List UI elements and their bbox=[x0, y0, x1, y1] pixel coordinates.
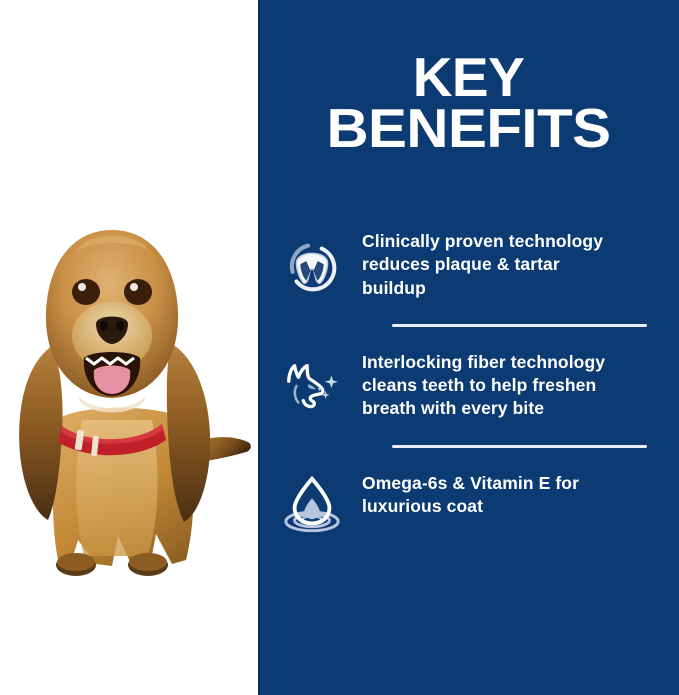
benefit-item-2: Interlocking fiber technology cleans tee… bbox=[280, 349, 661, 421]
page-title: KEY BENEFITS bbox=[258, 52, 679, 154]
benefit-list: Clinically proven technology reduces pla… bbox=[258, 228, 679, 536]
benefit-text-3: Omega-6s & Vitamin E for luxurious coat bbox=[362, 470, 624, 519]
water-droplet-icon bbox=[280, 472, 344, 536]
product-photo-panel bbox=[0, 0, 258, 695]
benefit-item-3: Omega-6s & Vitamin E for luxurious coat bbox=[280, 470, 661, 536]
benefit-divider-1 bbox=[392, 324, 647, 327]
key-benefits-card: KEY BENEFITS Cli bbox=[0, 0, 679, 695]
headline-line-2: BENEFITS bbox=[258, 103, 679, 154]
benefit-text-2: Interlocking fiber technology cleans tee… bbox=[362, 349, 624, 421]
benefit-text-1: Clinically proven technology reduces pla… bbox=[362, 228, 624, 300]
dog-photo bbox=[0, 168, 258, 588]
tooth-shield-icon bbox=[280, 234, 344, 298]
headline-line-1: KEY bbox=[266, 52, 671, 103]
benefits-panel: KEY BENEFITS Cli bbox=[258, 0, 679, 695]
benefit-item-1: Clinically proven technology reduces pla… bbox=[280, 228, 661, 300]
benefit-divider-2 bbox=[392, 445, 647, 448]
dog-head-sparkle-icon bbox=[280, 355, 344, 419]
